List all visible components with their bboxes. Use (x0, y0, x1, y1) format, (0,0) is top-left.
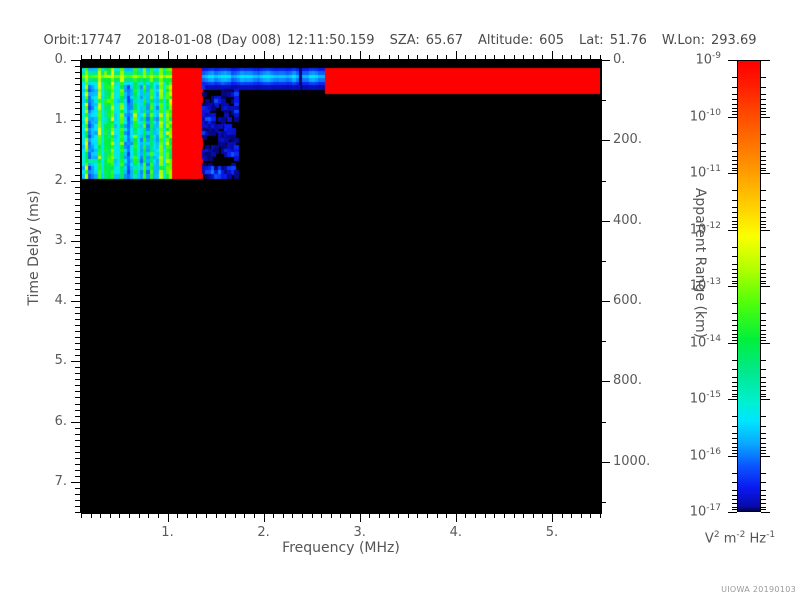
y-tick-label-right: 0. (613, 52, 673, 67)
metadata-header: Orbit:17747 2018-01-08 (Day 008) 12:11:5… (0, 30, 800, 50)
sza-label: SZA: (390, 33, 420, 48)
y-tick-label-left: 0. (25, 52, 67, 67)
y-tick-label-left: 1. (25, 112, 67, 127)
colorbar-tick-label: 10-9 (669, 51, 721, 67)
lat-value: 51.76 (610, 33, 647, 48)
sza-value: 65.67 (426, 33, 463, 48)
colorbar-tick-label: 10-13 (669, 277, 721, 293)
colorbar-tick-label: 10-12 (669, 221, 721, 237)
lat-label: Lat: (579, 33, 604, 48)
x-tick-label: 3. (340, 525, 380, 540)
y-tick-label-left: 5. (25, 353, 67, 368)
credit-watermark: UIOWA 20190103 (721, 585, 796, 594)
spectrogram-canvas (82, 61, 601, 513)
altitude-value: 605 (539, 33, 564, 48)
unit-m: m (724, 531, 737, 546)
y-tick-label-right: 1000. (613, 454, 673, 469)
unit-m-exp: -2 (736, 530, 745, 540)
x-tick-label: 4. (436, 525, 476, 540)
y-tick-label-right: 600. (613, 293, 673, 308)
observation-time: 12:11:50.159 (287, 33, 374, 48)
y-tick-label-left: 6. (25, 414, 67, 429)
colorbar-tick-label: 10-14 (669, 334, 721, 350)
ionogram-plot-area (81, 60, 602, 514)
x-tick-label: 1. (148, 525, 188, 540)
orbit-value: 17747 (80, 33, 121, 48)
x-tick-label: 2. (244, 525, 284, 540)
orbit-field: Orbit:17747 (43, 33, 121, 48)
x-tick-label: 5. (532, 525, 572, 540)
altitude-label: Altitude: (478, 33, 533, 48)
colorbar-tick-label: 10-15 (669, 390, 721, 406)
unit-hz-exp: -1 (766, 530, 775, 540)
y-tick-label-right: 800. (613, 373, 673, 388)
colorbar-tick-label: 10-16 (669, 447, 721, 463)
orbit-label: Orbit: (43, 33, 80, 48)
wlon-value: 293.69 (711, 33, 757, 48)
colorbar-tick-label: 10-10 (669, 108, 721, 124)
colorbar-tick-label: 10-17 (669, 503, 721, 519)
y-axis-title-left: Time Delay (ms) (26, 168, 42, 328)
unit-hz: Hz (749, 531, 766, 546)
y-tick-label-right: 400. (613, 213, 673, 228)
colorbar-tick-label: 10-11 (669, 164, 721, 180)
y-tick-label-left: 7. (25, 474, 67, 489)
observation-date: 2018-01-08 (Day 008) (137, 33, 281, 48)
colorbar (737, 60, 761, 512)
x-axis-title: Frequency (MHz) (181, 540, 501, 556)
unit-v: V (705, 531, 714, 546)
wlon-label: W.Lon: (662, 33, 705, 48)
y-tick-label-right: 200. (613, 132, 673, 147)
unit-v-exp: 2 (714, 530, 720, 540)
colorbar-unit-label: V2 m-2 Hz-1 (680, 530, 800, 546)
colorbar-gradient (737, 60, 761, 512)
